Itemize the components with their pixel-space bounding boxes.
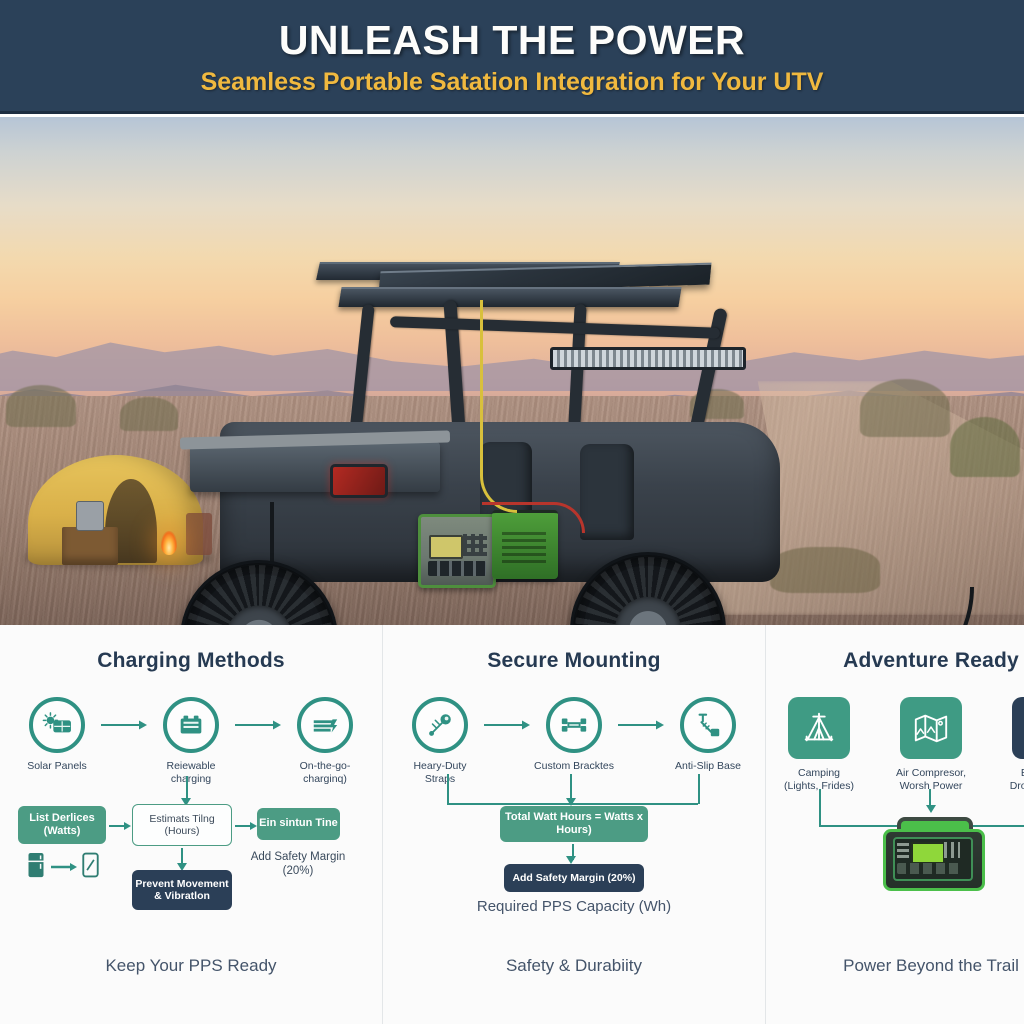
- label-required-capacity: Required PPS Capacity (Wh): [397, 898, 751, 917]
- mounting-flowchart: Total Watt Hours = Watts x Hours) Add Sa…: [397, 790, 751, 918]
- flow-arrow-icon: [617, 697, 665, 753]
- solar-panel-icon: [29, 697, 85, 753]
- pps-left-controls: [897, 842, 909, 858]
- page-subtitle: Seamless Portable Satation Integration f…: [201, 70, 824, 95]
- label-safety-margin: Add Safety Margin (20%): [248, 850, 348, 879]
- step-label: Anti-Slip Base: [675, 760, 741, 773]
- tile-air-compressor[interactable]: Air Compresor, Worsh Power: [892, 697, 970, 793]
- panel-footer: Power Beyond the Trail: [766, 956, 1024, 976]
- arrow-down-icon: [925, 805, 937, 813]
- adventure-tiles-row: Camping (Lights, Frides) Air Compresor, …: [780, 697, 1024, 793]
- step-label: Solar Panels: [27, 760, 87, 773]
- mounting-steps-row: Heary-Duty Straps: [397, 697, 751, 786]
- step-label: Heary-Duty Straps: [397, 760, 483, 786]
- pps-display: [429, 535, 463, 559]
- phone-icon: [82, 852, 99, 878]
- page-title: UNLEASH THE POWER: [279, 20, 745, 61]
- yellow-solar-cable: [480, 300, 517, 513]
- flow-arrow-icon: [100, 697, 148, 753]
- utv-cargo-bed: [190, 442, 440, 492]
- trailing-cable: [640, 587, 974, 625]
- step-on-the-go-charging[interactable]: On-the-go-charginq): [282, 697, 368, 786]
- red-power-cable: [482, 502, 585, 533]
- panel-title: Adventure Ready: [843, 649, 1019, 673]
- box-prevent-movement[interactable]: Prevent Movement & Vibratlon: [132, 870, 232, 910]
- panel-charging-methods: Charging Methods: [0, 625, 382, 1024]
- flow-arrow-icon: [234, 697, 282, 753]
- step-renewable-charging[interactable]: Reiewable charging: [148, 697, 234, 786]
- tile-extended-devices[interactable]: Extended Drone, Laptop: [1004, 697, 1024, 793]
- panel-footer: Keep Your PPS Ready: [0, 956, 382, 976]
- tile-camping[interactable]: Camping (Lights, Frides): [780, 697, 858, 793]
- roll-cage-crossbar: [390, 316, 720, 339]
- flow-arrow-icon: [483, 697, 531, 753]
- hero-photo: [0, 117, 1024, 625]
- desert-brush: [950, 417, 1020, 477]
- box-total-watt-hours[interactable]: Total Watt Hours = Watts x Hours): [500, 806, 648, 842]
- utv-seat: [580, 444, 634, 540]
- tile-label: Extended Drone, Laptop: [1004, 767, 1024, 793]
- map-icon: [900, 697, 962, 759]
- panel-footer: Safety & Durabiity: [383, 956, 765, 976]
- fridge-icon: [26, 852, 46, 879]
- compass-icon: [1012, 697, 1024, 759]
- portable-power-station-illustration: [877, 815, 985, 893]
- pps-right-controls: [944, 842, 960, 858]
- arrow-right-icon: [51, 862, 77, 872]
- step-label: On-the-go-charginq): [282, 760, 368, 786]
- bracket-icon: [546, 697, 602, 753]
- bottom-panels: Charging Methods: [0, 625, 1024, 1024]
- tail-light: [330, 464, 388, 498]
- desert-brush: [6, 385, 76, 427]
- pps-controls: [463, 534, 487, 556]
- step-anti-slip-base[interactable]: Anti-Slip Base: [665, 697, 751, 773]
- step-custom-brackets[interactable]: Custom Bracktes: [531, 697, 617, 773]
- flow-connector: [819, 789, 821, 827]
- box-runtime[interactable]: Ein sintun Tine: [257, 808, 340, 840]
- utv-vehicle: [150, 252, 830, 625]
- desert-brush: [860, 379, 950, 437]
- strap-ratchet-icon: [412, 697, 468, 753]
- charging-steps-row: Solar Panels Reiew: [14, 697, 368, 786]
- camp-table: [62, 527, 118, 565]
- flow-connector: [698, 774, 700, 804]
- vehicle-charging-icon: [297, 697, 353, 753]
- panel-secure-mounting: Secure Mounting Heary-Duty Straps: [382, 625, 765, 1024]
- infographic-page: UNLEASH THE POWER Seamless Portable Sata…: [0, 0, 1024, 1024]
- box-list-devices[interactable]: List Derlices (Watts): [18, 806, 106, 844]
- panel-adventure-ready: Adventure Ready Camping (Lights, Frides): [765, 625, 1024, 1024]
- flow-connector: [447, 774, 449, 804]
- pps-outlets: [428, 561, 486, 576]
- led-light-bar: [550, 347, 746, 370]
- header-banner: UNLEASH THE POWER Seamless Portable Sata…: [0, 0, 1024, 114]
- step-label: Reiewable charging: [148, 760, 234, 786]
- pps-outlet-row: [897, 863, 961, 874]
- panel-title: Charging Methods: [97, 649, 285, 673]
- step-heavy-duty-straps[interactable]: Heary-Duty Straps: [397, 697, 483, 786]
- arrow-right-icon: [109, 821, 131, 831]
- pps-lcd-screen: [911, 842, 945, 864]
- box-add-safety-margin[interactable]: Add Safety Margin (20%): [504, 864, 644, 892]
- step-label: Custom Bracktes: [534, 760, 614, 773]
- box-estimate-time[interactable]: Estimats Tilng (Hours): [132, 804, 232, 846]
- arrow-right-icon: [235, 821, 257, 831]
- charging-flowchart: List Derlices (Watts) Estimats Tilng (Ho…: [14, 790, 368, 918]
- camp-stove: [76, 501, 104, 531]
- tool-base-icon: [680, 697, 736, 753]
- battery-icon: [163, 697, 219, 753]
- arrow-down-icon: [565, 856, 577, 864]
- adventure-flow: [780, 797, 1024, 915]
- step-solar-panels[interactable]: Solar Panels: [14, 697, 100, 773]
- panel-title: Secure Mounting: [487, 649, 660, 673]
- tent-icon: [788, 697, 850, 759]
- arrow-down-icon: [565, 798, 577, 806]
